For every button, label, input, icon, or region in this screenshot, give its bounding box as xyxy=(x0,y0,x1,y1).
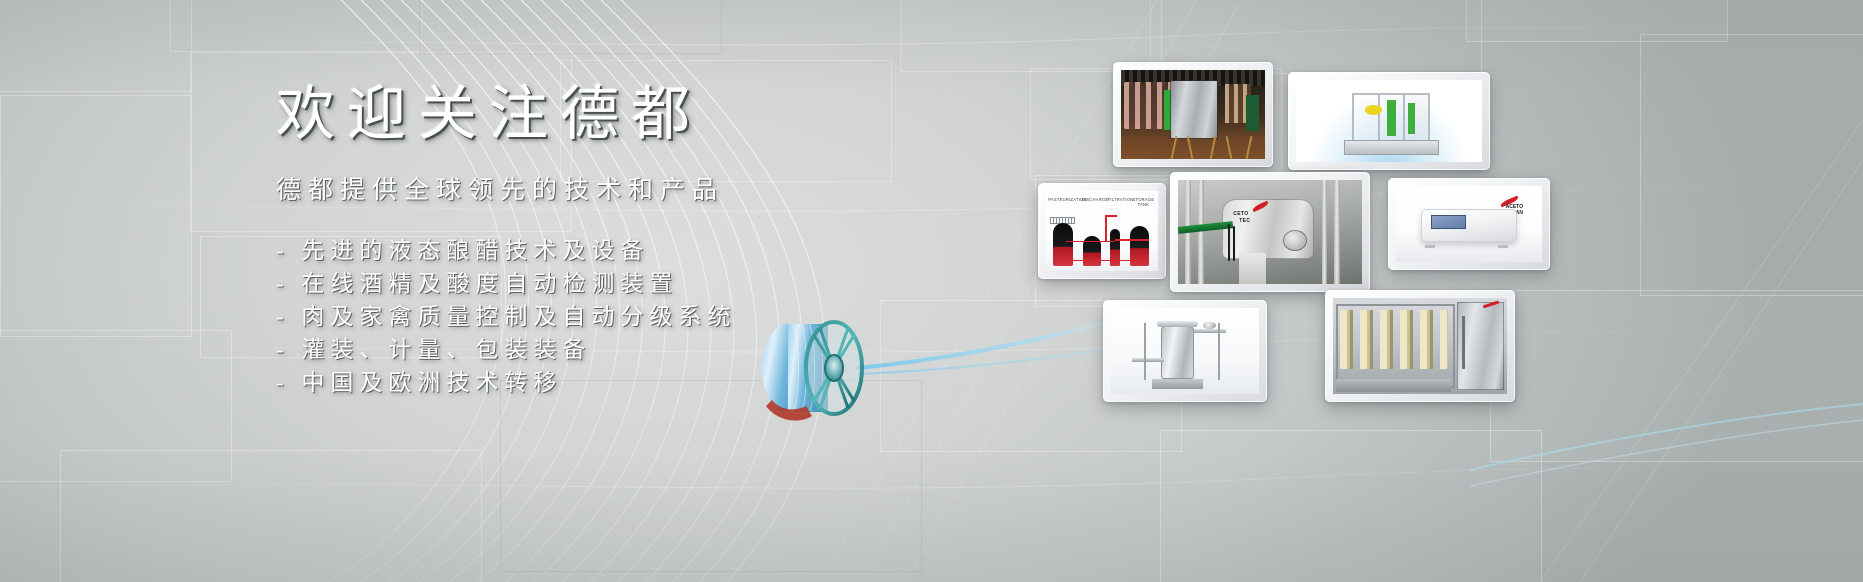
support-leg xyxy=(1170,136,1177,159)
lab-instrument-illustration: ACETO SCAN xyxy=(1396,186,1542,262)
gallery-tile-filtration-skid[interactable] xyxy=(1325,290,1515,402)
diagram-label: FILTRATION xyxy=(1108,197,1130,202)
green-column xyxy=(1408,103,1415,134)
inlet-pipe xyxy=(1194,329,1227,333)
list-item: - 中国及欧洲技术转移 xyxy=(276,366,916,399)
gallery-tile-process-flow-diagram[interactable]: PASTEURIZATION DISCHARGE FILTRATION STOR… xyxy=(1038,183,1166,279)
tile-image: ACETO SCAN xyxy=(1396,186,1542,262)
cable-bundle xyxy=(1233,226,1235,261)
vertical-column xyxy=(1198,180,1204,284)
bg-panel xyxy=(420,0,722,54)
page-title: 欢迎关注德都 xyxy=(276,84,916,146)
bg-panel xyxy=(60,450,482,582)
instrument-display xyxy=(1431,215,1466,229)
tile-image: PASTEURIZATION DISCHARGE FILTRATION STOR… xyxy=(1046,191,1158,271)
gallery-tile-cetotec-fermenter-tank[interactable]: CETO TEC xyxy=(1170,172,1370,292)
vertical-column xyxy=(1334,180,1340,284)
support-leg xyxy=(1225,136,1232,159)
pipe-line xyxy=(1066,260,1149,262)
bg-panel xyxy=(0,95,192,337)
cabinet-handle xyxy=(1462,316,1465,369)
skid-base xyxy=(1336,379,1451,392)
tile-image: CETO TEC xyxy=(1178,180,1362,284)
control-cabinet xyxy=(1457,302,1504,390)
cetotec-logo-text: CETO TEC xyxy=(1233,211,1250,225)
instrument-foot xyxy=(1425,245,1435,248)
tile-image xyxy=(1121,70,1265,159)
instrument-foot xyxy=(1498,245,1508,248)
green-panel xyxy=(1164,90,1171,130)
bg-panel xyxy=(1160,430,1542,582)
process-flow-illustration: PASTEURIZATION DISCHARGE FILTRATION STOR… xyxy=(1046,191,1158,271)
green-board xyxy=(1246,95,1259,131)
tile-image xyxy=(1296,80,1482,162)
tank-hatch xyxy=(1283,230,1307,251)
pipe-line xyxy=(1066,241,1115,243)
frame-upright xyxy=(1144,323,1146,380)
feature-list: - 先进的液态酿醋技术及设备 - 在线酒精及酸度自动检测装置 - 肉及家禽质量控… xyxy=(276,234,916,399)
frame-upright xyxy=(1218,323,1220,380)
support-frame xyxy=(1152,379,1202,389)
vessel-top-flange xyxy=(1157,321,1198,327)
support-leg xyxy=(1209,136,1216,159)
brand-line-2: TEC xyxy=(1239,218,1250,225)
diagram-label: STORAGE TANK xyxy=(1131,197,1156,208)
list-item: - 在线酒精及酸度自动检测装置 xyxy=(276,267,916,300)
bg-panel xyxy=(1640,34,1863,296)
vessel-body xyxy=(1161,325,1194,378)
brand-line-1: CETO xyxy=(1233,211,1248,217)
cad-render-illustration xyxy=(1296,80,1482,162)
cable-bundle xyxy=(1228,224,1230,261)
page-subtitle: 德都提供全球领先的技术和产品 xyxy=(276,170,916,206)
fermenter-tank-illustration: CETO TEC xyxy=(1178,180,1362,284)
banner-text-block: 欢迎关注德都 德都提供全球领先的技术和产品 - 先进的液态酿醋技术及设备 - 在… xyxy=(276,84,916,399)
tank-shell xyxy=(1222,199,1314,259)
list-item: - 先进的液态酿醋技术及设备 xyxy=(276,234,916,267)
poultry-line-illustration xyxy=(1121,70,1265,159)
support-leg xyxy=(1186,136,1193,159)
machine-base xyxy=(1344,140,1439,155)
tile-image xyxy=(1111,308,1259,394)
gallery-tile-poultry-processing-line[interactable] xyxy=(1113,62,1273,167)
gallery-tile-cad-packaging-machine[interactable] xyxy=(1288,72,1490,170)
gallery-tile-filter-housing-diagram[interactable] xyxy=(1103,300,1267,402)
list-item: - 灌装、计量、包装装备 xyxy=(276,333,916,366)
bg-panel xyxy=(1490,290,1863,462)
tile-image xyxy=(1333,298,1507,394)
filtration-skid-illustration xyxy=(1333,298,1507,394)
steel-cabinet xyxy=(1171,81,1217,138)
gallery-tile-lab-analyzer-instrument[interactable]: ACETO SCAN xyxy=(1388,178,1550,270)
green-column xyxy=(1387,100,1396,136)
yellow-reel xyxy=(1365,105,1382,116)
pipe-line xyxy=(1105,215,1107,242)
banner-stage: PASTEURIZATION DISCHARGE FILTRATION STOR… xyxy=(0,0,1863,582)
diagram-label: DISCHARGE xyxy=(1082,197,1107,202)
white-sack xyxy=(1239,253,1267,284)
outlet-pipe xyxy=(1132,358,1165,362)
pipe-line xyxy=(1115,239,1149,241)
diagram-label: PASTEURIZATION xyxy=(1048,197,1077,202)
pipe-line xyxy=(1105,215,1116,217)
filter-housing-illustration xyxy=(1111,308,1259,394)
vertical-column xyxy=(1322,180,1328,284)
bg-panel xyxy=(170,0,422,52)
membrane-tubes xyxy=(1340,310,1448,370)
support-leg xyxy=(1245,136,1252,159)
list-item: - 肉及家禽质量控制及自动分级系统 xyxy=(276,300,916,333)
bg-panel xyxy=(0,0,192,92)
